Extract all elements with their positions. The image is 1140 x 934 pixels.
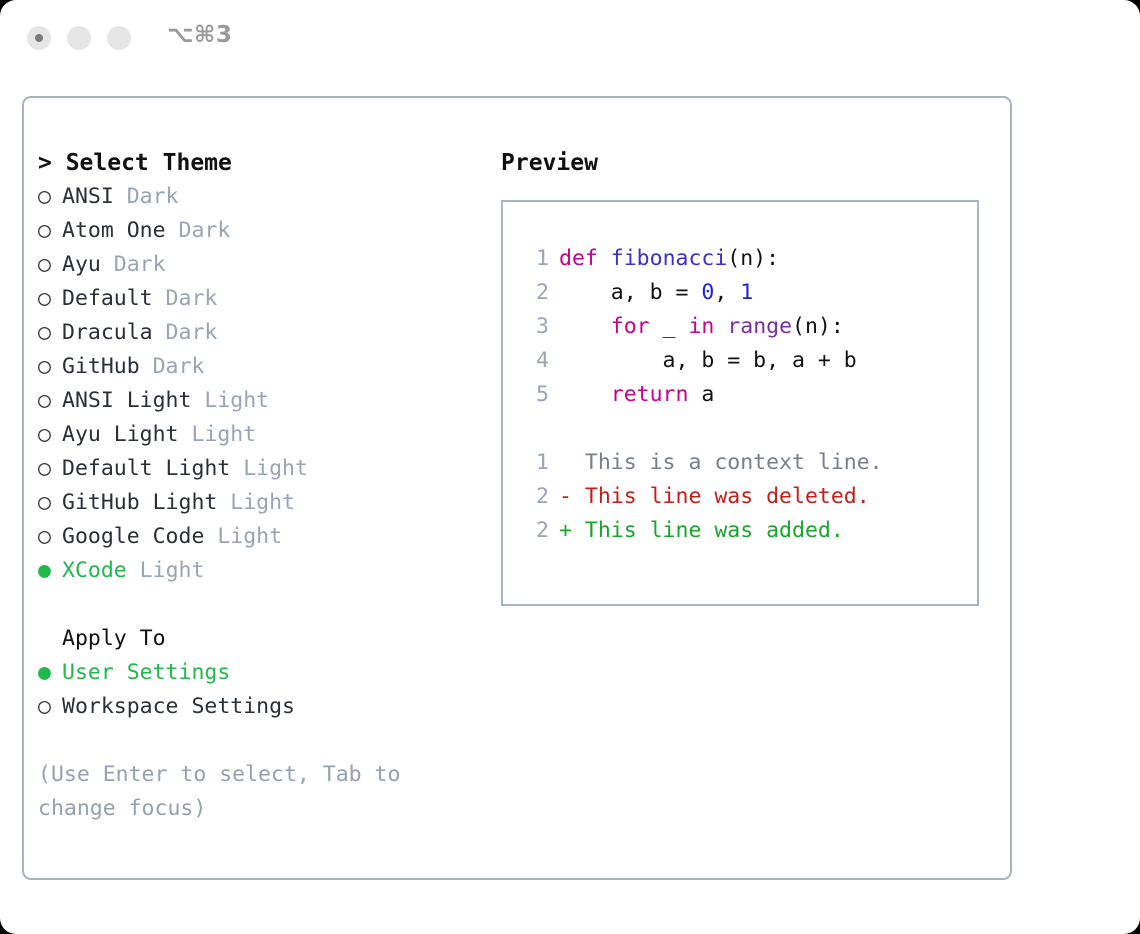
- radio-selected-icon: ●: [38, 656, 62, 690]
- theme-kind-badge: Dark: [153, 320, 218, 345]
- radio-unselected-icon: ○: [38, 520, 62, 554]
- code-line: 4 a, b = b, a + b: [519, 344, 969, 378]
- theme-item-label: Google Code: [62, 524, 204, 549]
- theme-item-label: ANSI Light: [62, 388, 191, 413]
- code-preview-box: 1def fibonacci(n):2 a, b = 0, 13 for _ i…: [501, 200, 979, 606]
- theme-item-xcode[interactable]: ●XCode Light: [38, 554, 488, 588]
- diff-line-text: - This line was deleted.: [559, 484, 870, 509]
- theme-item-label: ANSI: [62, 184, 114, 209]
- code-line: 5 return a: [519, 378, 969, 412]
- line-number: 1: [519, 446, 549, 480]
- theme-kind-badge: Dark: [153, 286, 218, 311]
- line-number: 1: [519, 242, 549, 276]
- code-token-plain: (n):: [727, 246, 779, 271]
- theme-item-default-light[interactable]: ○Default Light Light: [38, 452, 488, 486]
- diff-line-del: 2- This line was deleted.: [519, 480, 969, 514]
- apply-option-label: User Settings: [62, 660, 230, 685]
- radio-unselected-icon: ○: [38, 282, 62, 316]
- code-token-num: 1: [740, 280, 753, 305]
- theme-item-google-code[interactable]: ○Google Code Light: [38, 520, 488, 554]
- theme-kind-badge: Dark: [101, 252, 166, 277]
- code-token-plain: (n):: [792, 314, 844, 339]
- diff-line-add: 2+ This line was added.: [519, 514, 969, 548]
- line-number: 4: [519, 344, 549, 378]
- theme-item-label: Atom One: [62, 218, 166, 243]
- code-line: 1def fibonacci(n):: [519, 242, 969, 276]
- radio-unselected-icon: ○: [38, 690, 62, 724]
- theme-item-label: GitHub Light: [62, 490, 217, 515]
- keyboard-hint-text: (Use Enter to select, Tab to change focu…: [38, 758, 438, 826]
- theme-item-label: Ayu: [62, 252, 101, 277]
- radio-selected-icon: ●: [38, 554, 62, 588]
- theme-kind-badge: Light: [217, 490, 295, 515]
- theme-item-ansi-light[interactable]: ○ANSI Light Light: [38, 384, 488, 418]
- preview-header: Preview: [501, 146, 996, 180]
- traffic-light-maximize-icon[interactable]: [107, 26, 131, 50]
- line-number: 3: [519, 310, 549, 344]
- theme-item-label: Default: [62, 286, 153, 311]
- theme-kind-badge: Dark: [140, 354, 205, 379]
- traffic-light-close-icon[interactable]: [27, 26, 51, 50]
- code-token-kw: for: [611, 314, 650, 339]
- radio-unselected-icon: ○: [38, 248, 62, 282]
- radio-unselected-icon: ○: [38, 384, 62, 418]
- theme-item-label: Default Light: [62, 456, 230, 481]
- theme-item-ansi[interactable]: ○ANSI Dark: [38, 180, 488, 214]
- code-token-plain: a: [688, 382, 714, 407]
- apply-to-header: Apply To: [38, 622, 488, 656]
- app-window: ⌥⌘3 > Select Theme ○ANSI Dark○Atom One D…: [0, 0, 1140, 934]
- theme-item-label: XCode: [62, 558, 127, 583]
- theme-kind-badge: Light: [191, 388, 269, 413]
- code-token-call: range: [727, 314, 792, 339]
- code-token-plain: [598, 246, 611, 271]
- code-token-kw: def: [559, 246, 598, 271]
- code-token-plain: a, b = b, a + b: [559, 348, 857, 373]
- traffic-light-minimize-icon[interactable]: [67, 26, 91, 50]
- code-token-kw: in: [688, 314, 714, 339]
- line-number: 2: [519, 514, 549, 548]
- apply-option-workspace-settings[interactable]: ○Workspace Settings: [38, 690, 488, 724]
- code-token-plain: [559, 382, 611, 407]
- theme-kind-badge: Dark: [166, 218, 231, 243]
- radio-unselected-icon: ○: [38, 418, 62, 452]
- code-token-plain: [559, 314, 611, 339]
- code-token-plain: ,: [714, 280, 740, 305]
- diff-line-text: + This line was added.: [559, 518, 844, 543]
- code-preview-content: 1def fibonacci(n):2 a, b = 0, 13 for _ i…: [519, 242, 969, 548]
- theme-item-ayu-light[interactable]: ○Ayu Light Light: [38, 418, 488, 452]
- code-token-num: 0: [701, 280, 714, 305]
- section-spacer: [38, 588, 488, 622]
- line-number: 5: [519, 378, 549, 412]
- title-bar: ⌥⌘3: [0, 0, 1140, 78]
- apply-option-label: Workspace Settings: [62, 694, 295, 719]
- theme-item-github[interactable]: ○GitHub Dark: [38, 350, 488, 384]
- code-token-kw: return: [611, 382, 689, 407]
- theme-item-atom-one[interactable]: ○Atom One Dark: [38, 214, 488, 248]
- theme-kind-badge: Light: [204, 524, 282, 549]
- line-number: 2: [519, 276, 549, 310]
- theme-kind-badge: Light: [127, 558, 205, 583]
- radio-unselected-icon: ○: [38, 486, 62, 520]
- theme-picker-panel: > Select Theme ○ANSI Dark○Atom One Dark○…: [22, 96, 1012, 880]
- code-token-plain: [714, 314, 727, 339]
- theme-kind-badge: Light: [179, 422, 257, 447]
- theme-item-github-light[interactable]: ○GitHub Light Light: [38, 486, 488, 520]
- radio-unselected-icon: ○: [38, 180, 62, 214]
- traffic-light-active-dot: [35, 34, 43, 42]
- code-token-plain: a, b =: [559, 280, 701, 305]
- diff-line-ctx: 1 This is a context line.: [519, 446, 969, 480]
- theme-item-ayu[interactable]: ○Ayu Dark: [38, 248, 488, 282]
- apply-option-user-settings[interactable]: ●User Settings: [38, 656, 488, 690]
- code-line: 3 for _ in range(n):: [519, 310, 969, 344]
- keyboard-shortcut-label: ⌥⌘3: [167, 22, 232, 48]
- code-diff-separator: [519, 412, 969, 446]
- theme-kind-badge: Dark: [114, 184, 179, 209]
- radio-unselected-icon: ○: [38, 452, 62, 486]
- code-token-fn: fibonacci: [611, 246, 728, 271]
- preview-column: Preview 1def fibonacci(n):2 a, b = 0, 13…: [501, 146, 996, 180]
- theme-item-label: Ayu Light: [62, 422, 179, 447]
- code-line: 2 a, b = 0, 1: [519, 276, 969, 310]
- theme-item-label: GitHub: [62, 354, 140, 379]
- theme-item-label: Dracula: [62, 320, 153, 345]
- theme-item-dracula[interactable]: ○Dracula Dark: [38, 316, 488, 350]
- theme-list: ○ANSI Dark○Atom One Dark○Ayu Dark○Defaul…: [38, 180, 488, 588]
- theme-kind-badge: Light: [230, 456, 308, 481]
- radio-unselected-icon: ○: [38, 350, 62, 384]
- theme-list-column: > Select Theme ○ANSI Dark○Atom One Dark○…: [38, 146, 488, 826]
- diff-line-text: This is a context line.: [559, 450, 883, 475]
- code-token-plain: _: [650, 314, 689, 339]
- theme-item-default[interactable]: ○Default Dark: [38, 282, 488, 316]
- select-theme-header: > Select Theme: [38, 146, 488, 180]
- apply-to-list: ●User Settings○Workspace Settings: [38, 656, 488, 724]
- radio-unselected-icon: ○: [38, 316, 62, 350]
- line-number: 2: [519, 480, 549, 514]
- radio-unselected-icon: ○: [38, 214, 62, 248]
